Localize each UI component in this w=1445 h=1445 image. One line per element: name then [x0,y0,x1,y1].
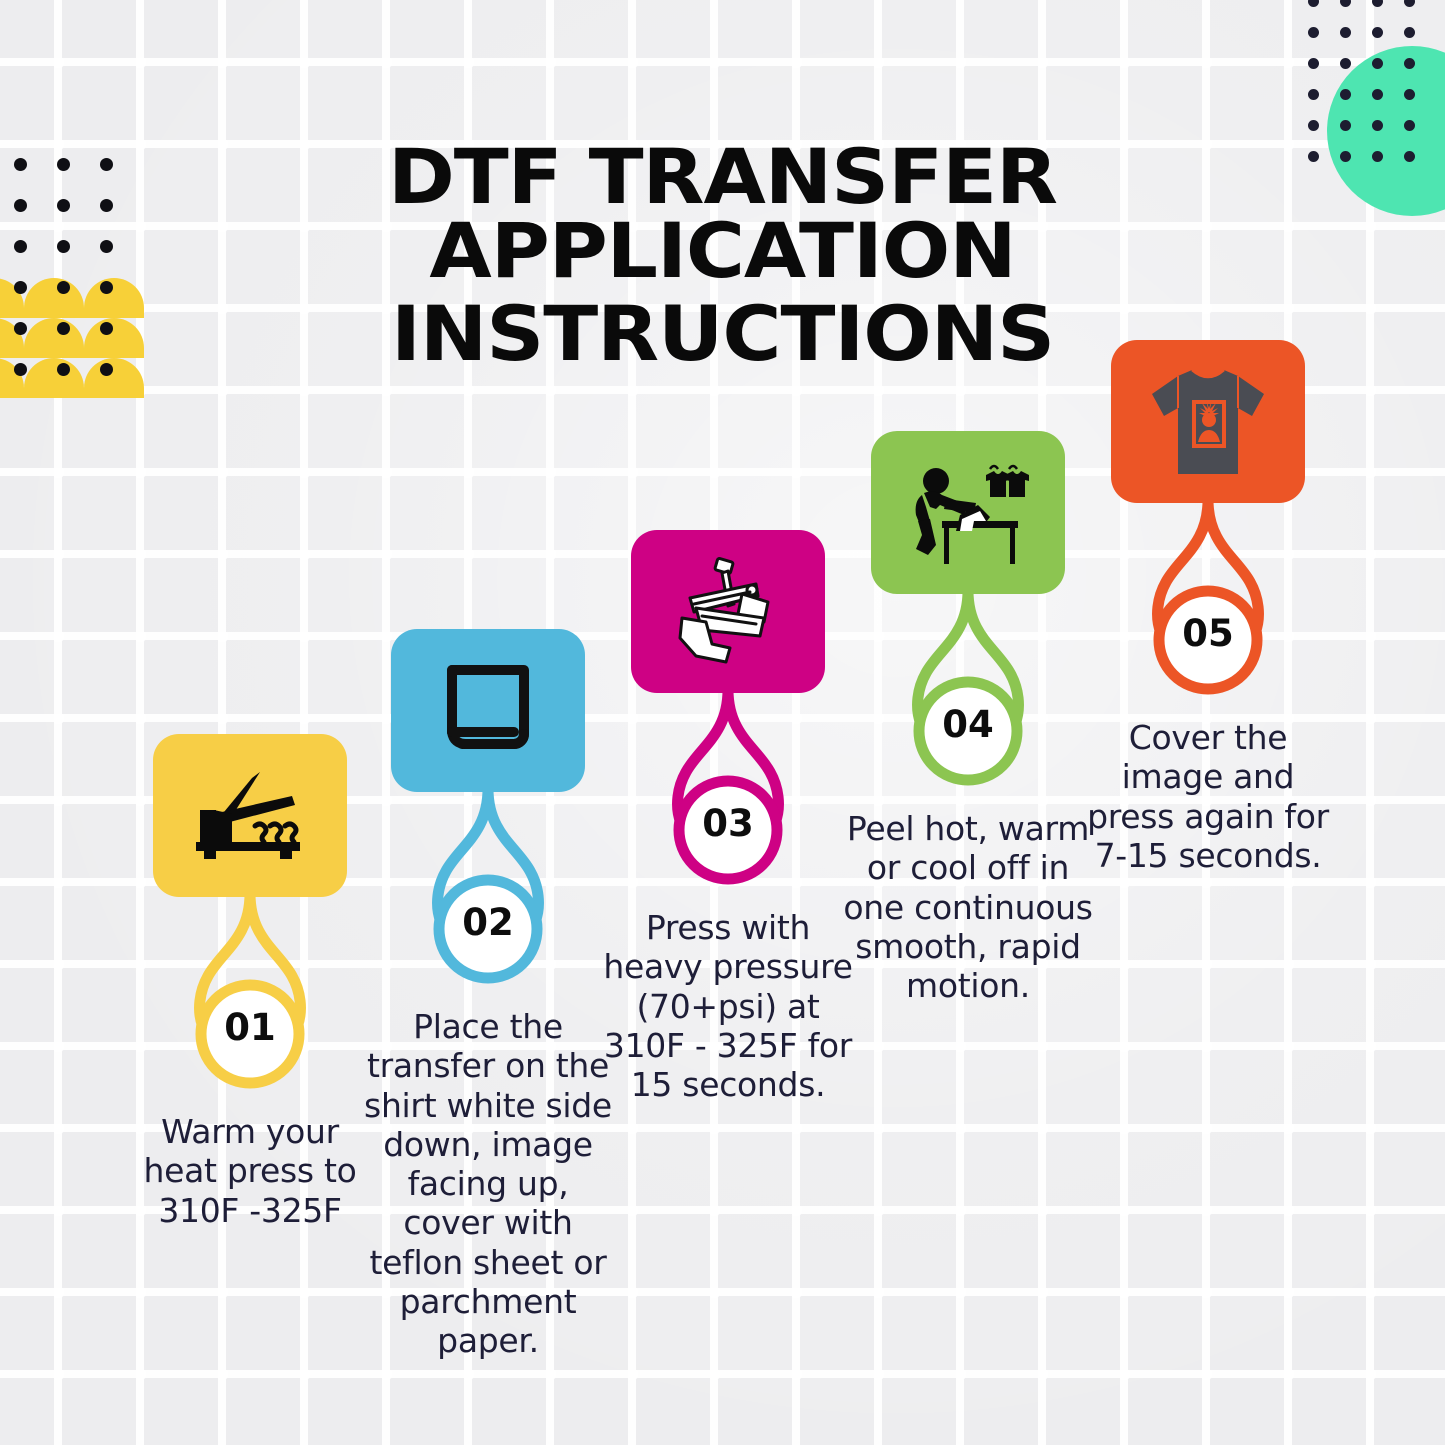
step-01-card [153,734,347,897]
step-01-connector: 01 [153,894,347,1100]
step-04: 04 Peel hot, warm or cool off in one con… [842,431,1094,1005]
title-line-2: INSTRUCTIONS [116,297,1330,371]
step-02-connector: 02 [391,789,585,995]
step-04-text: Peel hot, warm or cool off in one contin… [842,809,1094,1005]
step-01: 01 Warm your heat press to 310F -325F [124,734,376,1230]
step-01-number: 01 [153,1006,347,1049]
step-03-connector: 03 [631,690,825,896]
step-03-text: Press with heavy pressure (70+psi) at 31… [602,908,854,1104]
heat-press-machine-icon [672,556,784,668]
step-05-connector: 05 [1111,500,1305,706]
title-line-1: DTF TRANSFER APPLICATION [116,140,1330,287]
transfer-sheet-icon [438,662,538,760]
page-title: DTF TRANSFER APPLICATION INSTRUCTIONS [0,140,1445,371]
step-02-card [391,629,585,792]
step-02-text: Place the transfer on the shirt white si… [362,1007,614,1360]
printed-tshirt-icon [1148,364,1268,480]
step-03-card [631,530,825,693]
step-04-number: 04 [871,703,1065,746]
step-03-number: 03 [631,802,825,845]
step-01-text: Warm your heat press to 310F -325F [124,1112,376,1230]
step-05-text: Cover the image and press again for 7-15… [1082,718,1334,875]
step-03: 03 Press with heavy pressure (70+psi) at… [602,530,854,1104]
step-05: 05 Cover the image and press again for 7… [1082,340,1334,875]
poster-canvas: DTF TRANSFER APPLICATION INSTRUCTIONS [0,0,1445,1445]
peel-transfer-icon [906,459,1030,567]
step-05-number: 05 [1111,612,1305,655]
step-02: 02 Place the transfer on the shirt white… [362,629,614,1360]
step-02-number: 02 [391,901,585,944]
step-04-connector: 04 [871,591,1065,797]
heat-press-icon [192,768,308,864]
step-04-card [871,431,1065,594]
